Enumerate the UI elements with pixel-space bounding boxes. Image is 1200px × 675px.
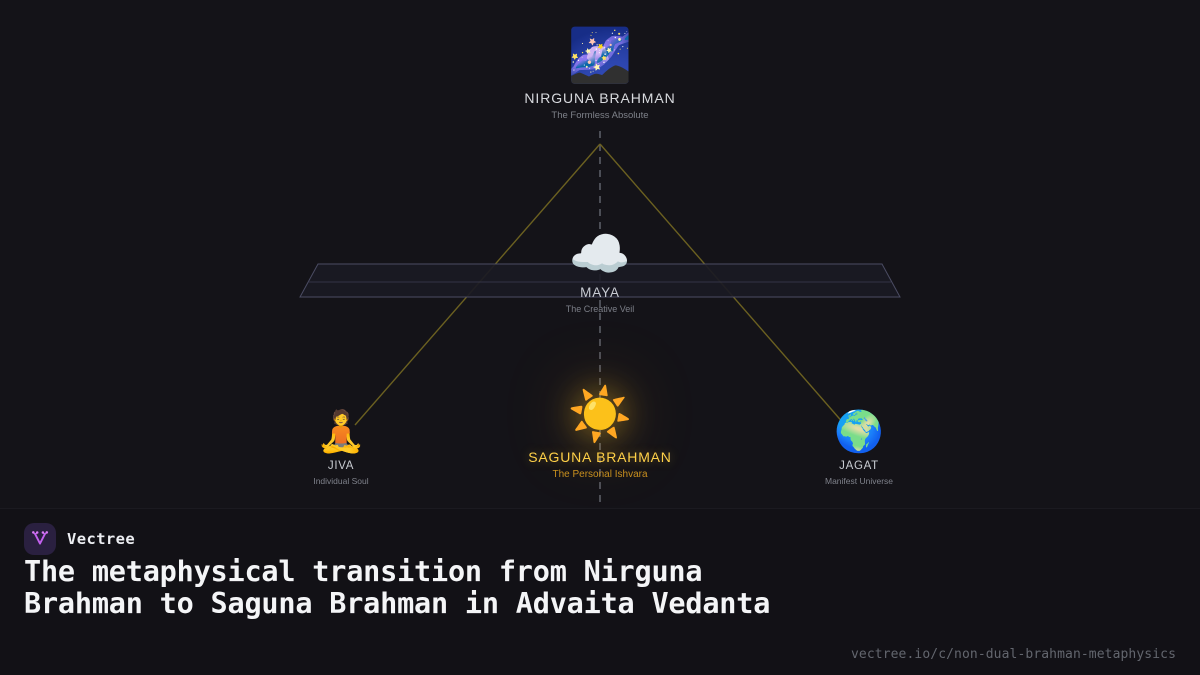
- vectree-logo-glyph: [30, 529, 50, 549]
- node-maya[interactable]: ☁️ MAYA The Creative Veil: [490, 229, 710, 314]
- globe-showing-europe-africa-icon: 🌍: [749, 412, 969, 452]
- footer-url: vectree.io/c/non-dual-brahman-metaphysic…: [851, 647, 1176, 662]
- node-jagat[interactable]: 🌍 JAGAT Manifest Universe: [749, 412, 969, 486]
- headline: The metaphysical transition from Nirguna…: [24, 556, 824, 620]
- brand-name: Vectree: [67, 530, 135, 548]
- node-maya-title: MAYA: [490, 285, 710, 300]
- milky-way-icon: 🌌: [490, 30, 710, 82]
- vectree-logo-icon: [24, 523, 56, 555]
- node-saguna-brahman[interactable]: ☀️ SAGUNA BRAHMAN The Personal Ishvara: [490, 389, 710, 480]
- node-nirguna-brahman-subtitle: The Formless Absolute: [490, 110, 710, 121]
- node-saguna-brahman-subtitle: The Personal Ishvara: [490, 469, 710, 480]
- node-maya-subtitle: The Creative Veil: [490, 304, 710, 314]
- person-in-lotus-position-icon: 🧘: [231, 412, 451, 452]
- node-jiva[interactable]: 🧘 JIVA Individual Soul: [231, 412, 451, 486]
- node-jiva-subtitle: Individual Soul: [231, 476, 451, 486]
- footer-banner: Vectree The metaphysical transition from…: [0, 508, 1200, 675]
- brand-row[interactable]: Vectree: [24, 523, 135, 555]
- node-nirguna-brahman[interactable]: 🌌 NIRGUNA BRAHMAN The Formless Absolute: [490, 30, 710, 121]
- node-saguna-brahman-title: SAGUNA BRAHMAN: [490, 449, 710, 465]
- node-jagat-title: JAGAT: [749, 460, 969, 472]
- sun-icon: ☀️: [490, 389, 710, 441]
- screenshot-root: 🌌 NIRGUNA BRAHMAN The Formless Absolute …: [0, 0, 1200, 675]
- node-jagat-subtitle: Manifest Universe: [749, 476, 969, 486]
- cloud-icon: ☁️: [490, 229, 710, 279]
- node-nirguna-brahman-title: NIRGUNA BRAHMAN: [490, 90, 710, 106]
- node-jiva-title: JIVA: [231, 460, 451, 472]
